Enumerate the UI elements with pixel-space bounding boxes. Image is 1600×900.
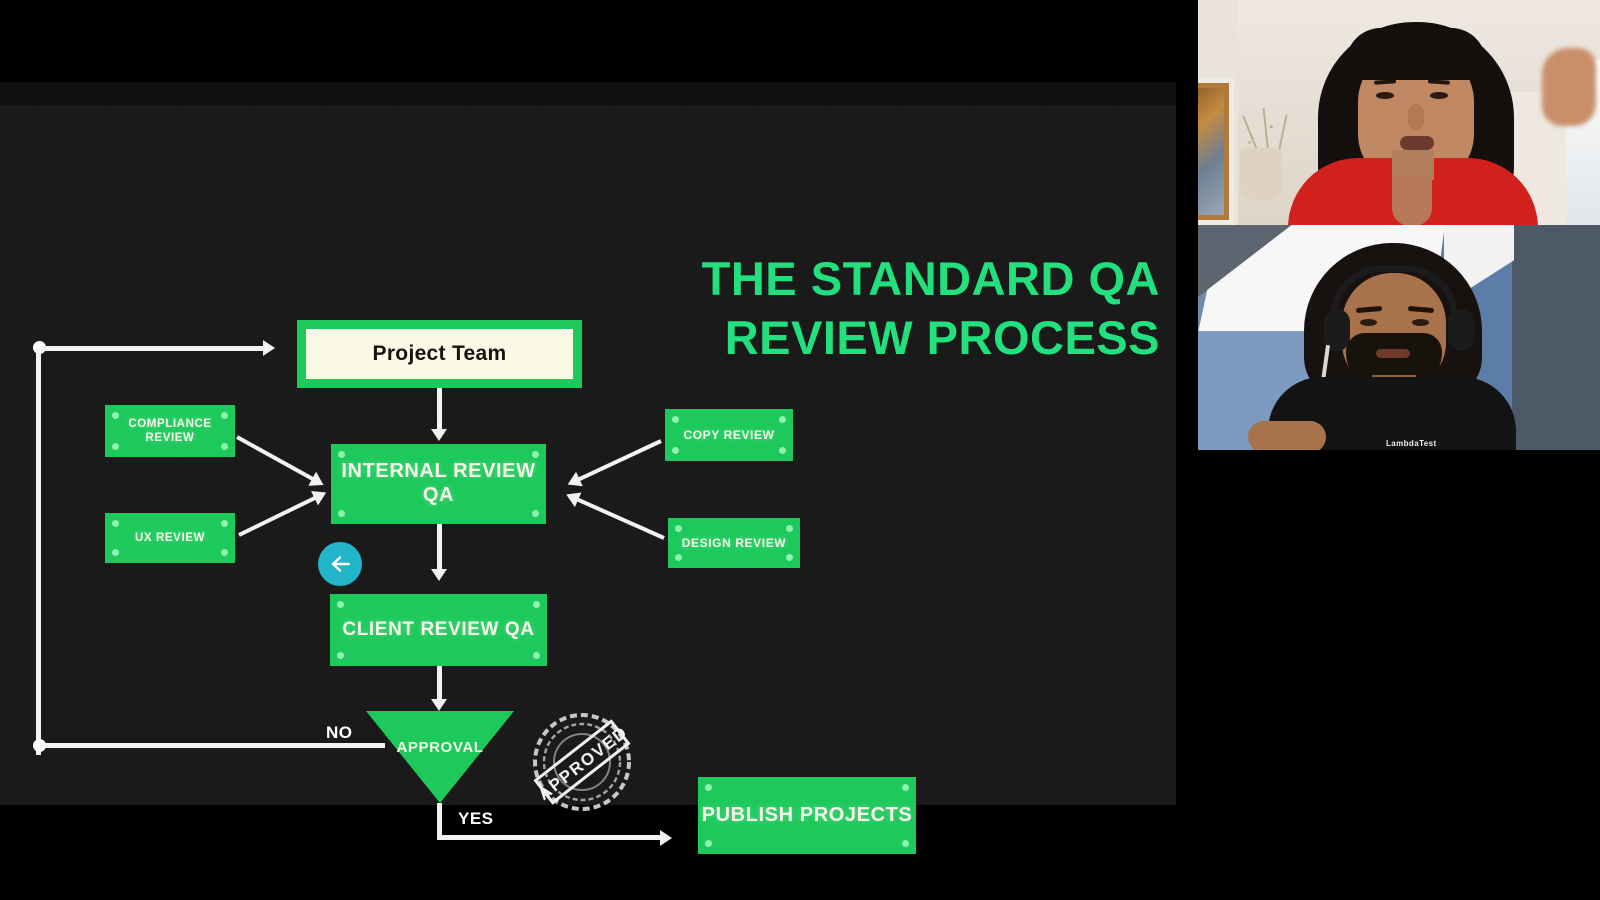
shirt-neckline [1392,176,1432,225]
nose [1408,104,1424,130]
approved-stamp: APPROVED [521,706,643,818]
handle-dot [337,601,344,608]
loop-left-vertical [36,348,41,755]
handle-dot [112,443,119,450]
handle-dot [221,443,228,450]
participant-2-arm [1248,421,1326,450]
handle-dot [532,451,539,458]
handle-dot [221,549,228,556]
edge-project-to-internal [437,388,442,432]
eye-left [1376,92,1394,99]
node-design-review-label: DESIGN REVIEW [682,536,786,550]
handle-dot [337,652,344,659]
node-client-review-qa-label: CLIENT REVIEW QA [342,619,534,641]
eye-right [1430,92,1448,99]
tile-letterbox-left [1176,225,1198,450]
loop-bottom-horizontal [40,743,385,748]
handle-dot [779,447,786,454]
handle-dot [533,601,540,608]
mouth [1376,349,1410,358]
edge-yes-vertical [437,803,442,839]
handle-dot [902,840,909,847]
node-project-team[interactable]: Project Team [297,320,582,388]
edge-internal-to-client [437,524,442,572]
node-client-review-qa[interactable]: CLIENT REVIEW QA [330,594,547,666]
loop-top-horizontal [40,346,265,351]
handle-dot [112,549,119,556]
decision-triangle-shape [366,711,514,803]
edge-compliance-to-internal [236,435,315,481]
handle-dot [221,412,228,419]
back-arrow-button[interactable] [318,542,362,586]
node-project-team-label: Project Team [306,329,573,379]
edge-client-to-approval [437,666,442,703]
edge-yes-arrowhead [660,830,672,846]
handle-dot [786,554,793,561]
participant-tile-2[interactable]: LambdaTest [1176,225,1600,450]
shared-screen-region: THE STANDARD QA REVIEW PROCESS Project T… [0,0,1176,806]
edge-copy-to-internal [577,439,662,482]
handle-dot [532,510,539,517]
mouth [1400,136,1434,150]
presentation-slide: THE STANDARD QA REVIEW PROCESS Project T… [0,105,1176,805]
slide-title: THE STANDARD QA REVIEW PROCESS [620,250,1160,368]
edge-design-to-internal [575,497,664,540]
node-ux-review-label: UX REVIEW [135,532,205,544]
node-compliance-review-label: COMPLIANCE REVIEW [105,417,235,446]
node-approval-decision[interactable]: APPROVAL [366,711,514,803]
handle-dot [221,520,228,527]
handle-dot [672,416,679,423]
handle-dot [705,784,712,791]
slide-top-letterbox [0,82,1176,105]
edge-internal-to-client-arrowhead [431,569,447,581]
handle-dot [112,412,119,419]
handle-dot [338,510,345,517]
tshirt-logo: LambdaTest [1386,439,1437,448]
meeting-window: THE STANDARD QA REVIEW PROCESS Project T… [0,0,1600,900]
handle-dot [533,652,540,659]
participant-1-fringe [1346,28,1486,80]
node-copy-review-label: COPY REVIEW [683,428,774,442]
approved-stamp-icon: APPROVED [521,706,643,818]
edge-client-to-approval-arrowhead [431,699,447,711]
headset-earcup-right [1448,309,1474,351]
vase [1240,148,1282,200]
node-compliance-review[interactable]: COMPLIANCE REVIEW [105,405,235,457]
back-arrow-icon [327,551,353,577]
node-publish-projects-label: PUBLISH PROJECTS [702,803,913,827]
eye-right [1412,319,1429,326]
handle-dot [902,784,909,791]
handle-dot [338,451,345,458]
raised-hand [1542,48,1596,126]
handle-dot [675,554,682,561]
node-ux-review[interactable]: UX REVIEW [105,513,235,563]
handle-dot [672,447,679,454]
edge-yes-horizontal [437,835,663,840]
node-design-review[interactable]: DESIGN REVIEW [668,518,800,568]
edge-label-yes: YES [458,809,494,829]
handle-dot [675,525,682,532]
node-internal-review-qa-label: INTERNAL REVIEW QA [331,460,546,507]
slide-title-line-1: THE STANDARD QA [620,250,1160,309]
handle-dot [705,840,712,847]
eye-left [1360,319,1377,326]
node-internal-review-qa[interactable]: INTERNAL REVIEW QA [331,444,546,524]
node-approval-label: APPROVAL [366,739,514,756]
tile-letterbox-left [1176,0,1198,225]
edge-label-no: NO [326,723,353,743]
participant-tile-1[interactable] [1176,0,1600,225]
slide-title-line-2: REVIEW PROCESS [620,309,1160,368]
handle-dot [786,525,793,532]
edge-project-to-internal-arrowhead [431,429,447,441]
node-copy-review[interactable]: COPY REVIEW [665,409,793,461]
handle-dot [779,416,786,423]
loop-to-project-arrowhead [263,340,275,356]
node-publish-projects[interactable]: PUBLISH PROJECTS [698,777,916,854]
participant-video-rail: LambdaTest [1176,0,1600,900]
edge-ux-to-internal [238,496,317,537]
handle-dot [112,520,119,527]
